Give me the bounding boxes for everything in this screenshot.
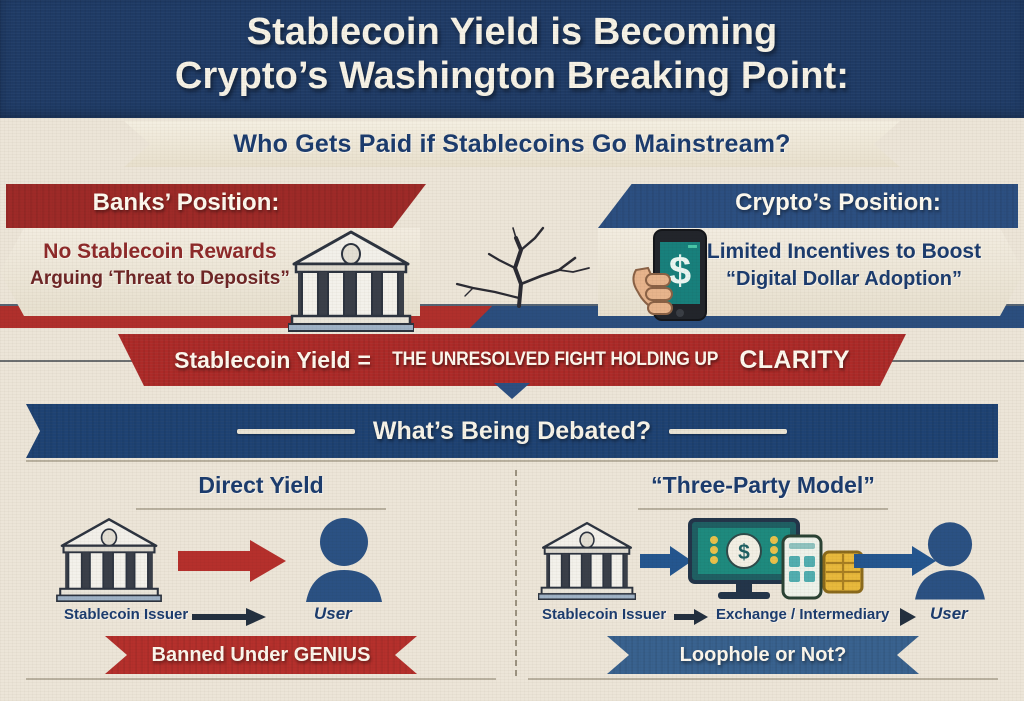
panel-rule xyxy=(136,508,386,510)
bank-building-icon xyxy=(538,520,636,600)
debate-rule-left xyxy=(237,429,355,434)
banks-position-line1: No Stablecoin Rewards xyxy=(24,240,296,264)
equation-equals: = xyxy=(358,347,371,374)
page-title: Stablecoin Yield is Becoming Crypto’s Wa… xyxy=(0,10,1024,98)
crypto-position-heading: Crypto’s Position: xyxy=(658,189,1018,217)
crack-fissure-icon xyxy=(455,180,615,328)
banks-position-line2: Arguing ‘Threat to Deposits” xyxy=(24,268,296,290)
small-arrow-icon xyxy=(674,609,710,625)
debate-bar: What’s Being Debated? xyxy=(26,404,998,458)
panel-bottom-rule xyxy=(26,678,496,680)
panel-three-party-model: “Three-Party Model” xyxy=(528,462,998,684)
label-user: User xyxy=(314,604,352,624)
svg-text:$: $ xyxy=(738,541,750,564)
positions-row: Banks’ Position: No Stablecoin Rewards A… xyxy=(0,178,1024,340)
equation-banner: Stablecoin Yield = THE UNRESOLVED FIGHT … xyxy=(118,334,906,386)
panel-title-three-party: “Three-Party Model” xyxy=(528,472,998,499)
panel-bottom-rule xyxy=(528,678,998,680)
svg-text:$: $ xyxy=(669,249,691,293)
label-user: User xyxy=(930,604,968,624)
panel-title-direct-yield: Direct Yield xyxy=(26,472,496,499)
tag-loophole-or-not: Loophole or Not? xyxy=(607,636,919,674)
tag-banned-under-genius: Banned Under GENIUS xyxy=(105,636,417,674)
bank-building-icon xyxy=(54,516,164,602)
title-line-2: Crypto’s Washington Breaking Point: xyxy=(0,54,1024,98)
phone-app-icon xyxy=(780,534,824,600)
label-stablecoin-issuer: Stablecoin Issuer xyxy=(542,606,666,623)
debate-rule-right xyxy=(669,429,787,434)
label-exchange-intermediary: Exchange / Intermediary xyxy=(716,606,889,623)
user-silhouette-icon xyxy=(294,516,394,602)
panel-divider xyxy=(515,470,517,676)
equation-text: Stablecoin Yield = THE UNRESOLVED FIGHT … xyxy=(118,334,906,386)
flow-direct-yield xyxy=(26,516,496,602)
small-arrow-icon xyxy=(192,608,268,626)
subtitle-ribbon: Who Gets Paid if Stablecoins Go Mainstre… xyxy=(124,121,900,167)
infographic-root: Stablecoin Yield is Becoming Crypto’s Wa… xyxy=(0,0,1024,701)
equation-part-a: Stablecoin Yield xyxy=(174,347,350,374)
labels-direct-yield: Stablecoin Issuer User xyxy=(26,604,496,628)
header-banner: Stablecoin Yield is Becoming Crypto’s Wa… xyxy=(0,0,1024,118)
banks-position-band: Banks’ Position: xyxy=(6,184,426,228)
labels-three-party: Stablecoin Issuer Exchange / Intermediar… xyxy=(528,604,998,628)
equation-part-b: THE UNRESOLVED FIGHT HOLDING UP xyxy=(392,349,718,371)
triangle-arrow-icon xyxy=(900,608,918,626)
subtitle-text: Who Gets Paid if Stablecoins Go Mainstre… xyxy=(124,121,900,167)
flow-three-party: $ xyxy=(528,516,998,602)
title-line-1: Stablecoin Yield is Becoming xyxy=(247,11,778,53)
label-stablecoin-issuer: Stablecoin Issuer xyxy=(64,606,188,623)
panel-rule xyxy=(638,508,888,510)
panel-direct-yield: Direct Yield xyxy=(26,462,496,684)
equation-part-c: CLARITY xyxy=(739,346,849,375)
bank-building-icon xyxy=(288,228,414,332)
debate-label: What’s Being Debated? xyxy=(373,417,651,446)
hand-holding-phone-icon: $ xyxy=(628,222,740,334)
user-silhouette-icon xyxy=(904,520,996,600)
panels-row: Direct Yield xyxy=(26,462,998,684)
banks-position-heading: Banks’ Position: xyxy=(6,189,366,217)
down-arrow-icon xyxy=(494,383,530,399)
red-arrow-icon xyxy=(178,538,288,584)
